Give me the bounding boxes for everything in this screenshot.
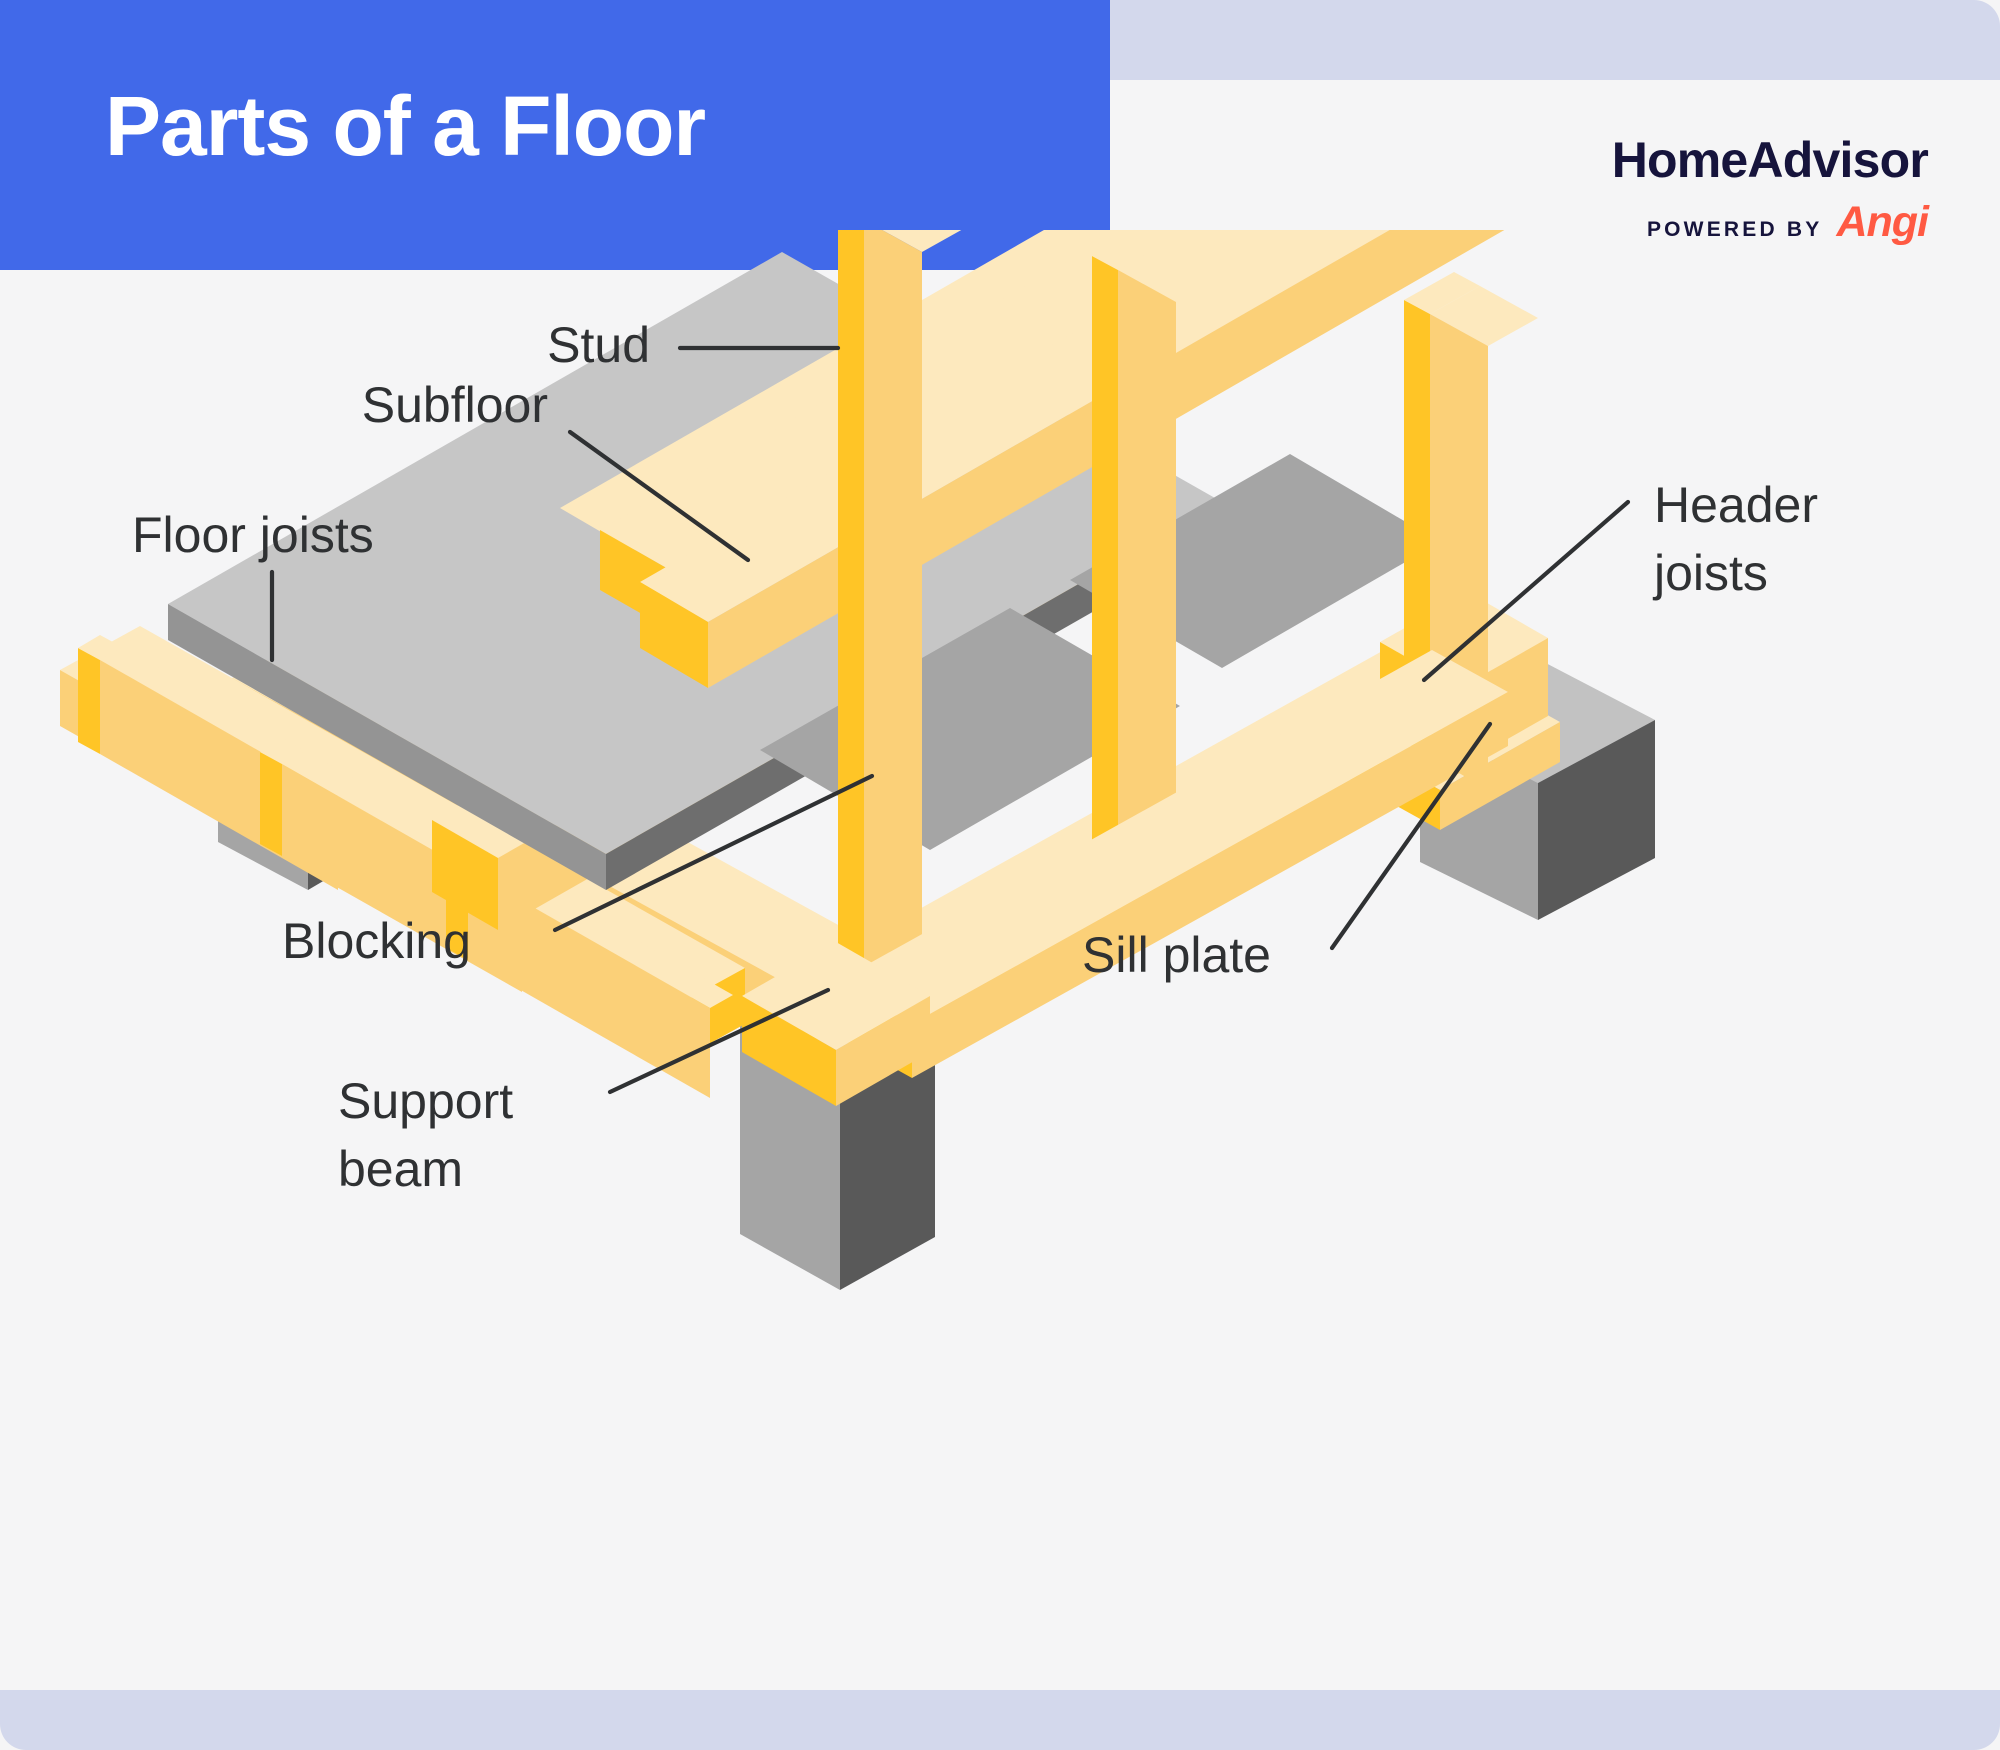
infographic-page: Parts of a Floor HomeAdvisor POWERED BY …	[0, 0, 2000, 1750]
svg-text:joists: joists	[1652, 545, 1768, 601]
label-subfloor: Subfloor	[362, 377, 548, 433]
decorative-band-top	[1080, 0, 2000, 80]
label-sill-plate: Sill plate	[1082, 927, 1271, 983]
logo-homeadvisor-text: HomeAdvisor	[1612, 135, 1928, 185]
svg-text:Support: Support	[338, 1073, 513, 1129]
svg-text:beam: beam	[338, 1141, 463, 1197]
label-support-beam: Support beam	[338, 1073, 513, 1197]
page-title: Parts of a Floor	[105, 78, 705, 175]
label-stud: Stud	[547, 317, 650, 373]
brand-logo: HomeAdvisor POWERED BY Angi	[1612, 135, 1928, 244]
label-blocking: Blocking	[282, 913, 471, 969]
decorative-band-bottom	[0, 1690, 2000, 1750]
svg-text:Header: Header	[1654, 477, 1818, 533]
label-header-joists: Header joists	[1652, 477, 1818, 601]
label-floor-joists: Floor joists	[132, 507, 374, 563]
floor-framing-diagram: Stud Subfloor Floor joists Header joists…	[0, 230, 2000, 1630]
